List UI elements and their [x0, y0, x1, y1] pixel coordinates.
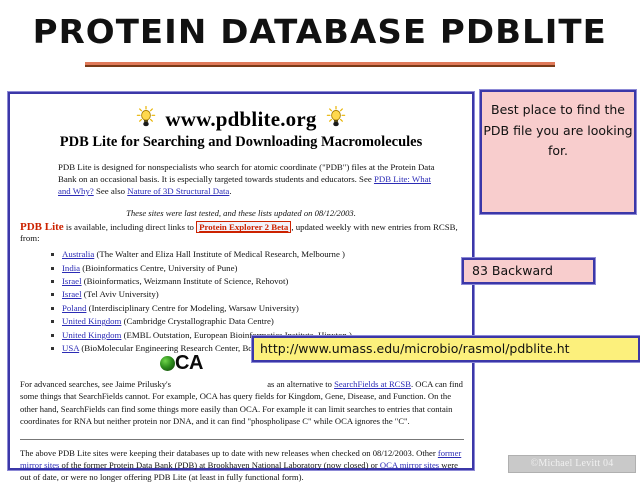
- list-item: Israel (Tel Aviv University): [50, 288, 462, 301]
- link-oca-mirror-sites[interactable]: OCA mirror sites: [380, 460, 439, 470]
- annotation-83-backward[interactable]: 83 Backward: [462, 258, 595, 284]
- brand-pdblite: PDB Lite: [20, 221, 64, 233]
- page-title: PROTEIN DATABASE PDBLITE: [0, 14, 640, 52]
- intro-text-2: See also: [94, 186, 127, 196]
- mirror-link[interactable]: Australia: [62, 249, 94, 259]
- link-searchfields-at-rcsb[interactable]: SearchFields at RCSB: [334, 379, 411, 389]
- list-item: United Kingdom (Cambridge Crystallograph…: [50, 315, 462, 328]
- lightbulb-icon: [325, 106, 347, 132]
- mirror-desc: (Bioinformatics, Weizmann Institute of S…: [84, 276, 289, 286]
- link-nature-of-3d-structural-data[interactable]: Nature of 3D Structural Data: [127, 186, 229, 196]
- list-item: Poland (Interdisciplinary Centre for Mod…: [50, 302, 462, 315]
- mirror-desc: (Interdisciplinary Centre for Modeling, …: [89, 303, 299, 313]
- site-tagline: PDB Lite for Searching and Downloading M…: [20, 134, 462, 151]
- link-protein-explorer-2-beta[interactable]: Protein Explorer 2 Beta: [196, 221, 291, 233]
- availability-text-1: is available, including direct links to: [64, 222, 196, 232]
- mirror-desc: (The Walter and Eliza Hall Institute of …: [96, 249, 345, 259]
- watermark: ©Michael Levitt 04: [508, 455, 636, 473]
- intro-paragraph: PDB Lite is designed for nonspecialists …: [58, 161, 438, 197]
- title-underline-rule: [85, 62, 555, 67]
- annotation-best-place[interactable]: Best place to find the PDB file you are …: [480, 90, 636, 214]
- mirror-link[interactable]: Poland: [62, 303, 86, 313]
- oca-paragraph: For advanced searches, see Jaime Prilusk…: [20, 378, 464, 427]
- webpage-screenshot-panel: www.pdblite.org: [8, 92, 474, 470]
- footer-text-1: The above PDB Lite sites were keeping th…: [20, 448, 438, 458]
- site-header: www.pdblite.org: [20, 102, 462, 151]
- mirror-link[interactable]: Israel: [62, 276, 82, 286]
- mirror-desc: (Tel Aviv University): [84, 289, 159, 299]
- intro-text-3: .: [229, 186, 231, 196]
- oca-globe-icon: [160, 356, 175, 371]
- footer-text-2: of the former Protein Data Bank (PDB) at…: [59, 460, 380, 470]
- annotation-url[interactable]: http://www.umass.edu/microbio/rasmol/pdb…: [252, 336, 640, 362]
- footer-paragraph: The above PDB Lite sites were keeping th…: [20, 447, 464, 484]
- oca-logo-text: CA: [175, 353, 203, 373]
- lightbulb-icon: [135, 106, 157, 132]
- last-tested-notice: These sites were last tested, and these …: [20, 208, 462, 218]
- mirror-desc: (Bioinformatics Centre, University of Pu…: [82, 263, 237, 273]
- oca-after-logo-text: as an alternative to: [265, 379, 334, 389]
- oca-logo-row: CA: [20, 365, 462, 378]
- oca-logo: CA: [160, 353, 203, 373]
- mirror-link[interactable]: India: [62, 263, 80, 273]
- mirror-desc: (Cambridge Crystallographic Data Centre): [124, 316, 274, 326]
- horizontal-divider: [20, 439, 464, 440]
- site-url-heading: www.pdblite.org: [165, 107, 316, 132]
- list-item: Australia (The Walter and Eliza Hall Ins…: [50, 248, 462, 261]
- mirror-link[interactable]: Israel: [62, 289, 82, 299]
- page-title-text: PROTEIN DATABASE PDBLITE: [29, 14, 611, 52]
- mirror-link[interactable]: USA: [62, 343, 79, 353]
- list-item: Israel (Bioinformatics, Weizmann Institu…: [50, 275, 462, 288]
- oca-lead-text: For advanced searches, see Jaime Prilusk…: [20, 379, 173, 389]
- list-item: India (Bioinformatics Centre, University…: [50, 262, 462, 275]
- mirror-link[interactable]: United Kingdom: [62, 316, 121, 326]
- availability-line: PDB Lite is available, including direct …: [20, 221, 462, 244]
- mirror-link[interactable]: United Kingdom: [62, 330, 121, 340]
